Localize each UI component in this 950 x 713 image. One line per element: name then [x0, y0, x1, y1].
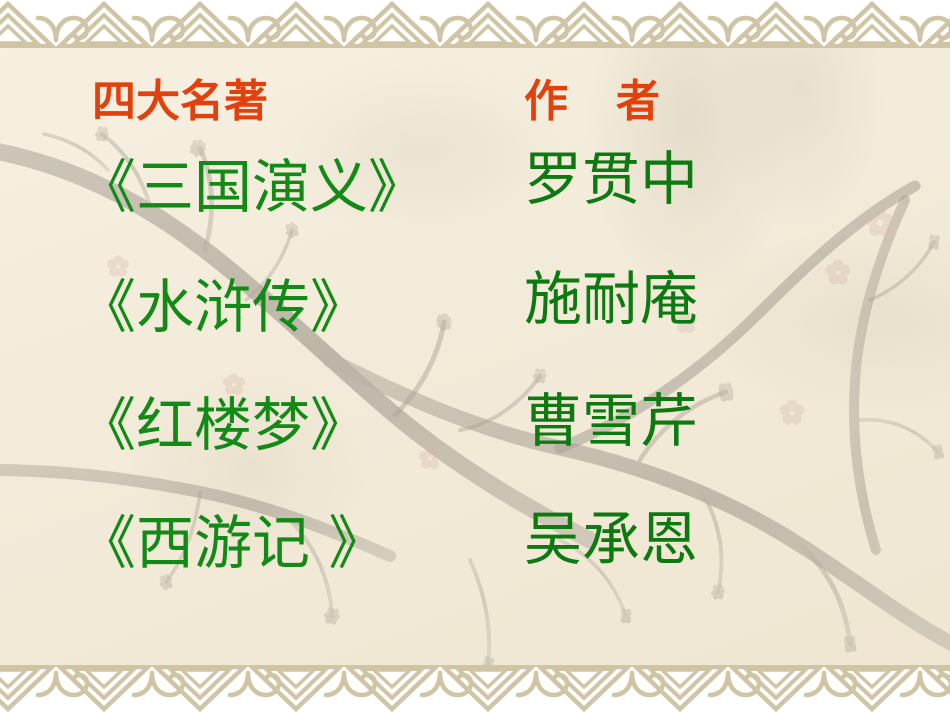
work-author: 吴承恩 [524, 510, 698, 568]
work-title: 《西游记 》 [78, 514, 386, 572]
work-author: 罗贯中 [524, 150, 698, 208]
column-header-authors: 作 者 [524, 80, 662, 124]
classics-table: 四大名著 作 者 《三国演义》 罗贯中 《水浒传》 施耐庵 《红楼梦》 曹雪芹 … [0, 0, 950, 713]
work-author: 曹雪芹 [524, 392, 698, 450]
work-title: 《三国演义》 [78, 158, 426, 216]
work-title: 《水浒传》 [78, 278, 368, 336]
work-title: 《红楼梦》 [78, 396, 368, 454]
slide-canvas: 四大名著 作 者 《三国演义》 罗贯中 《水浒传》 施耐庵 《红楼梦》 曹雪芹 … [0, 0, 950, 713]
column-header-works: 四大名著 [92, 80, 268, 124]
work-author: 施耐庵 [524, 270, 698, 328]
